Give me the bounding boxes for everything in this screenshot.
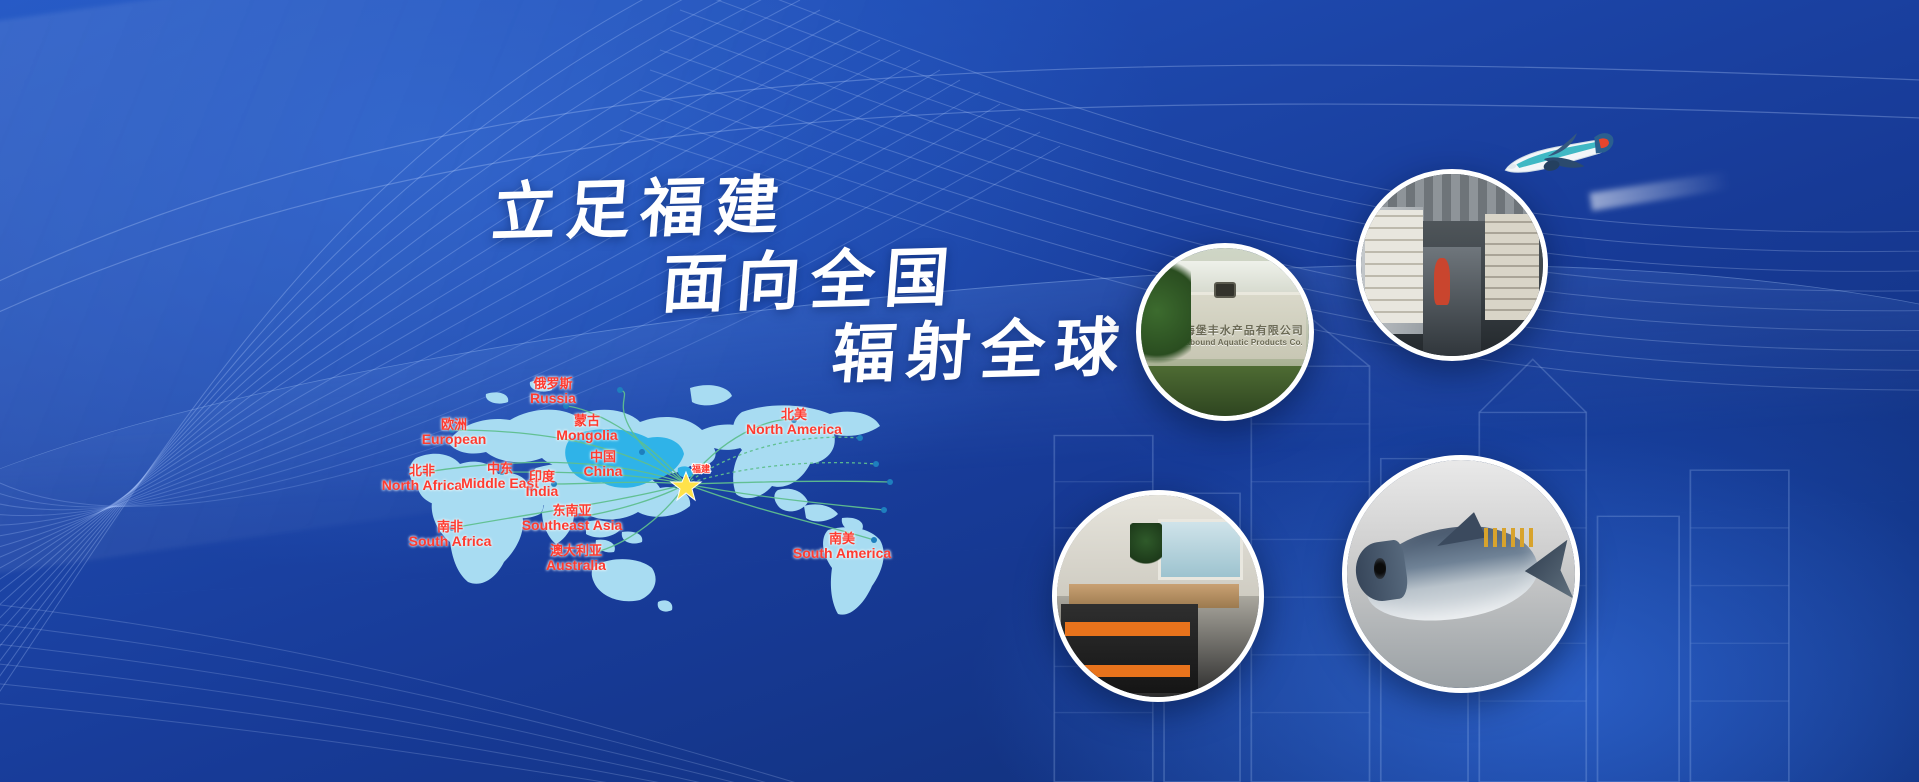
office-photo[interactable] — [1052, 490, 1264, 702]
map-label-european: 欧洲 European — [422, 418, 487, 446]
map-label-en: North Africa — [382, 478, 462, 493]
world-map-svg: 福建 — [390, 372, 1050, 662]
tuna-image — [1347, 460, 1575, 688]
map-label-india: 印度 India — [526, 470, 559, 498]
map-label-en: South Africa — [409, 534, 492, 549]
origin-label: 福建 — [691, 463, 711, 474]
office-cabinet — [1061, 604, 1198, 693]
map-label-en: China — [584, 464, 623, 479]
map-label-cn: 南美 — [793, 532, 891, 546]
stacked-cartons-right — [1485, 214, 1540, 320]
map-label-mongolia: 蒙古 Mongolia — [556, 414, 617, 442]
map-label-en: South America — [793, 546, 891, 561]
map-label-cn: 俄罗斯 — [530, 377, 576, 391]
cold-storage-image — [1361, 174, 1543, 356]
worker-figure — [1434, 258, 1450, 305]
warehouse-aisle — [1423, 247, 1481, 356]
map-label-australia: 澳大利亚 Australia — [546, 544, 606, 572]
tuna-fish-photo[interactable] — [1342, 455, 1580, 693]
map-label-en: India — [526, 484, 559, 499]
map-label-en: Southeast Asia — [522, 518, 623, 533]
map-label-north-africa: 北非 North Africa — [382, 464, 462, 492]
map-label-cn: 北美 — [746, 408, 842, 422]
map-label-en: North America — [746, 422, 842, 437]
map-label-cn: 东南亚 — [522, 504, 623, 518]
map-label-en: Australia — [546, 558, 606, 573]
office-image — [1057, 495, 1259, 697]
map-label-cn: 中国 — [584, 450, 623, 464]
wall-lamp-icon — [1214, 282, 1236, 298]
world-map: 福建 俄罗斯 Russia 蒙古 Mongolia 中国 China 欧洲 Eu… — [390, 372, 1050, 662]
map-label-cn: 印度 — [526, 470, 559, 484]
map-label-en: Russia — [530, 391, 576, 406]
promo-banner: 立足福建 面向全国 辐射全球 — [0, 0, 1919, 782]
factory-sign-image: 石狮市海堡丰水产品有限公司 Shishi Seabound Aquatic Pr… — [1141, 248, 1309, 416]
map-label-cn: 蒙古 — [556, 414, 617, 428]
cold-storage-photo[interactable] — [1356, 169, 1548, 361]
map-label-south-america: 南美 South America — [793, 532, 891, 560]
map-label-cn: 南非 — [409, 520, 492, 534]
map-label-en: Mongolia — [556, 428, 617, 443]
cabinet-stripe-bottom — [1065, 665, 1190, 677]
map-label-cn: 欧洲 — [422, 418, 487, 432]
map-label-north-america: 北美 North America — [746, 408, 842, 436]
map-label-cn: 澳大利亚 — [546, 544, 606, 558]
office-window — [1158, 519, 1243, 580]
tree-foliage — [1136, 258, 1191, 376]
potted-plant-icon — [1130, 523, 1162, 567]
cabinet-stripe-top — [1065, 622, 1190, 636]
map-label-russia: 俄罗斯 Russia — [530, 377, 576, 405]
map-label-south-africa: 南非 South Africa — [409, 520, 492, 548]
map-label-southeast-asia: 东南亚 Southeast Asia — [522, 504, 623, 532]
map-label-china: 中国 China — [584, 450, 623, 478]
fish-finlets — [1484, 528, 1534, 546]
map-label-en: European — [422, 432, 487, 447]
fish-eye — [1374, 558, 1385, 579]
factory-sign-photo[interactable]: 石狮市海堡丰水产品有限公司 Shishi Seabound Aquatic Pr… — [1136, 243, 1314, 421]
map-label-cn: 北非 — [382, 464, 462, 478]
stacked-cartons-left — [1365, 210, 1423, 323]
